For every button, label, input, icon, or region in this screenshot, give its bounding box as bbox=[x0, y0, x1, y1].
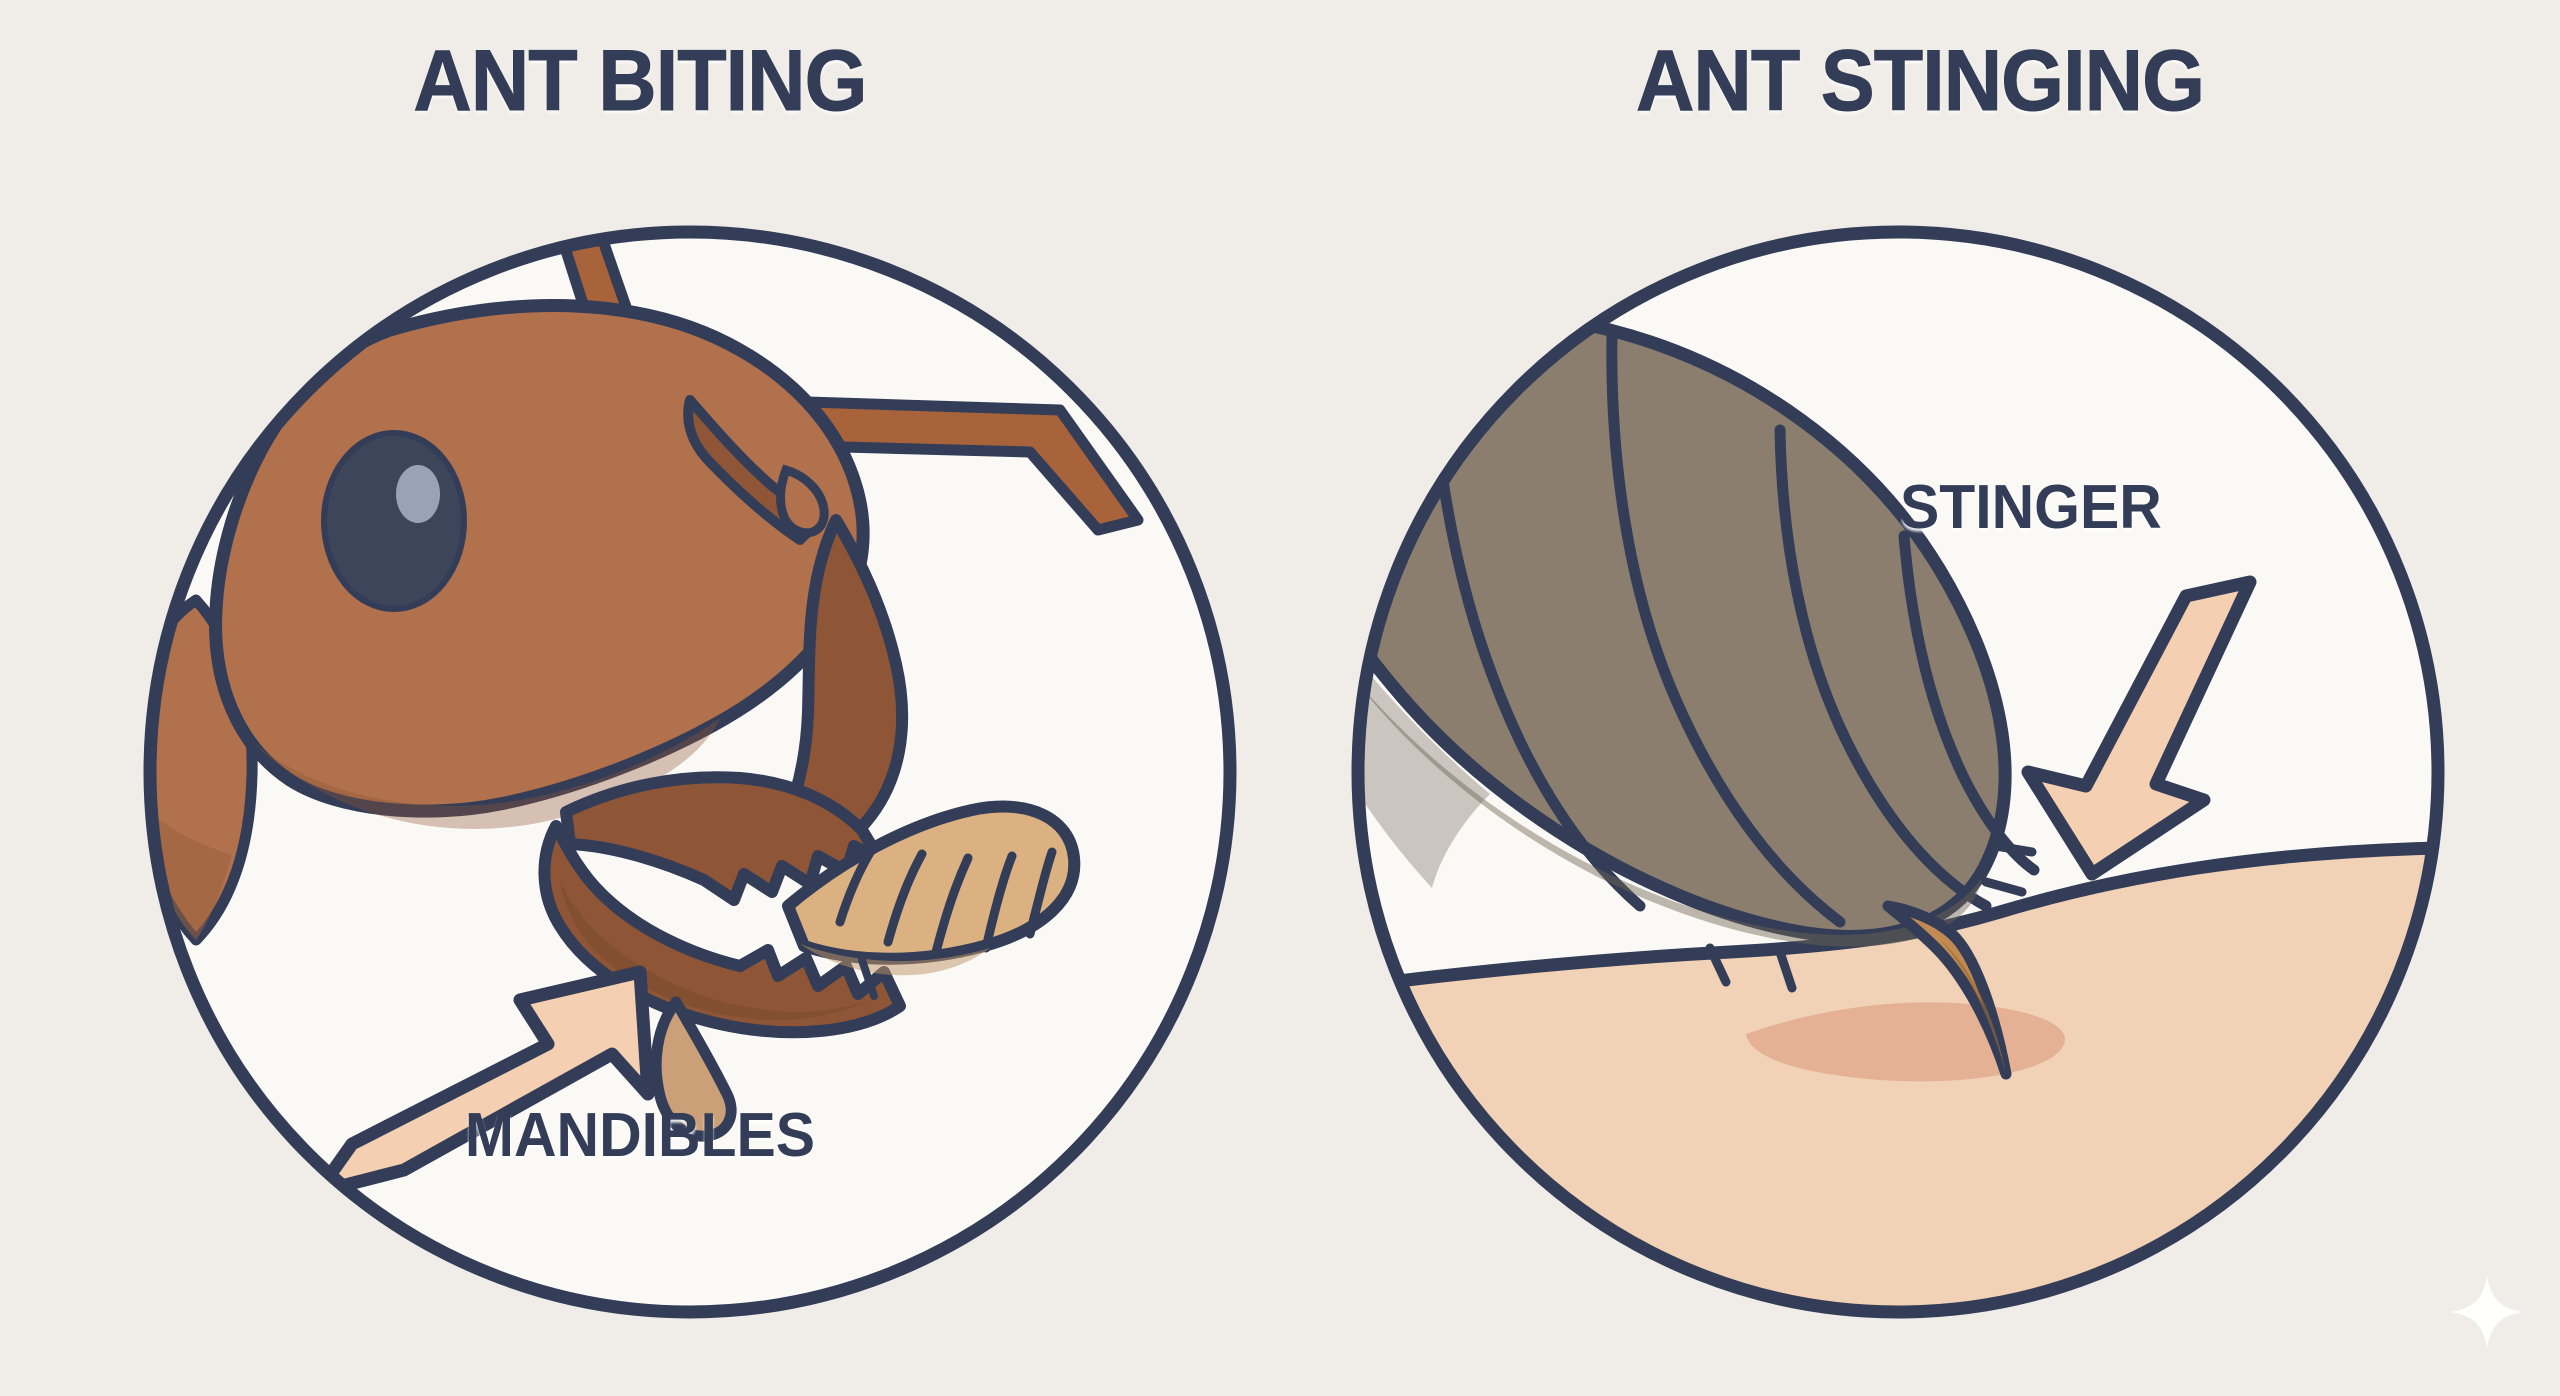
panel-ant-biting: ANT BITING bbox=[0, 0, 1280, 1396]
mandibles-label: MANDIBLES bbox=[393, 1100, 887, 1171]
eye-highlight bbox=[396, 465, 440, 523]
stinger-label: STINGER bbox=[1900, 472, 2394, 543]
ant-biting-figure: MANDIBLES bbox=[0, 0, 1280, 1396]
panel-ant-stinging: ANT STINGING bbox=[1280, 0, 2560, 1396]
illustration-stage: ANT BITING bbox=[0, 0, 2560, 1396]
ant-eye bbox=[324, 433, 464, 609]
ant-stinging-figure: STINGER bbox=[1280, 0, 2560, 1396]
